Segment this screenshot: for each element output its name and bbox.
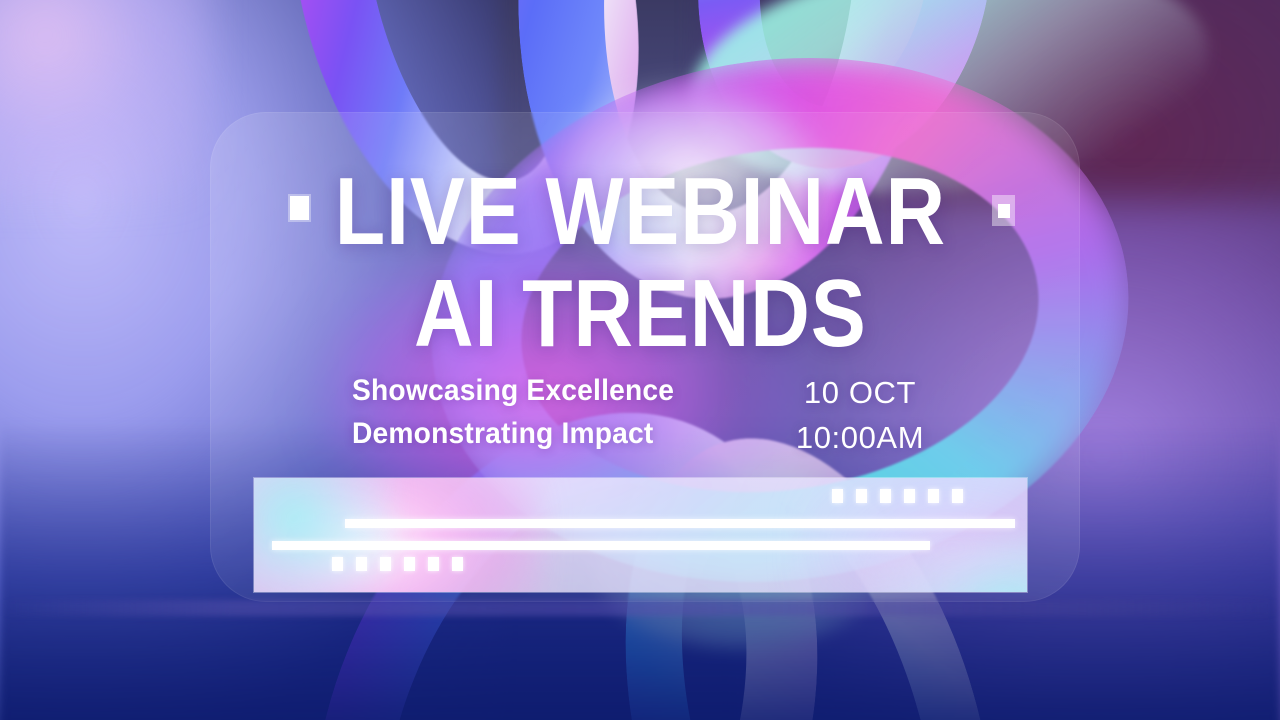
- dot-marker: [832, 489, 843, 503]
- dot-marker: [452, 557, 463, 571]
- dot-marker: [380, 557, 391, 571]
- dot-marker: [952, 489, 963, 503]
- panel-cyan-glow: [254, 478, 394, 592]
- dot-marker: [428, 557, 439, 571]
- dot-row-bottom-left: [332, 557, 463, 571]
- dot-marker: [856, 489, 867, 503]
- dot-row-top-right: [832, 489, 963, 503]
- subtitle-line-1: Showcasing Excellence: [352, 370, 674, 413]
- headline-line-1: LIVE WEBINAR: [334, 168, 945, 256]
- dot-marker: [404, 557, 415, 571]
- panel-shadow-band: [0, 600, 1280, 616]
- bottom-frosted-panel: [254, 478, 1027, 592]
- dot-marker: [356, 557, 367, 571]
- headline-line-2: AI TRENDS: [334, 270, 945, 358]
- subtitle-row: Showcasing Excellence Demonstrating Impa…: [352, 370, 695, 455]
- schedule-block: 10 OCT 10:00AM: [780, 371, 940, 461]
- subtitle-block: Showcasing Excellence Demonstrating Impa…: [352, 370, 674, 455]
- dot-marker: [332, 557, 343, 571]
- dot-marker: [880, 489, 891, 503]
- dot-marker: [928, 489, 939, 503]
- poster-content: LIVE WEBINAR AI TRENDS Showcasing Excell…: [0, 0, 1280, 720]
- subtitle-line-2: Demonstrating Impact: [352, 413, 674, 456]
- panel-lower-bar: [272, 541, 930, 550]
- event-date: 10 OCT: [780, 371, 940, 416]
- headline-block: LIVE WEBINAR AI TRENDS: [285, 168, 996, 359]
- event-time: 10:00AM: [780, 416, 940, 461]
- poster-canvas: LIVE WEBINAR AI TRENDS Showcasing Excell…: [0, 0, 1280, 720]
- headline-row: LIVE WEBINAR AI TRENDS: [0, 168, 1280, 359]
- dot-marker: [904, 489, 915, 503]
- panel-upper-bar: [345, 519, 1015, 528]
